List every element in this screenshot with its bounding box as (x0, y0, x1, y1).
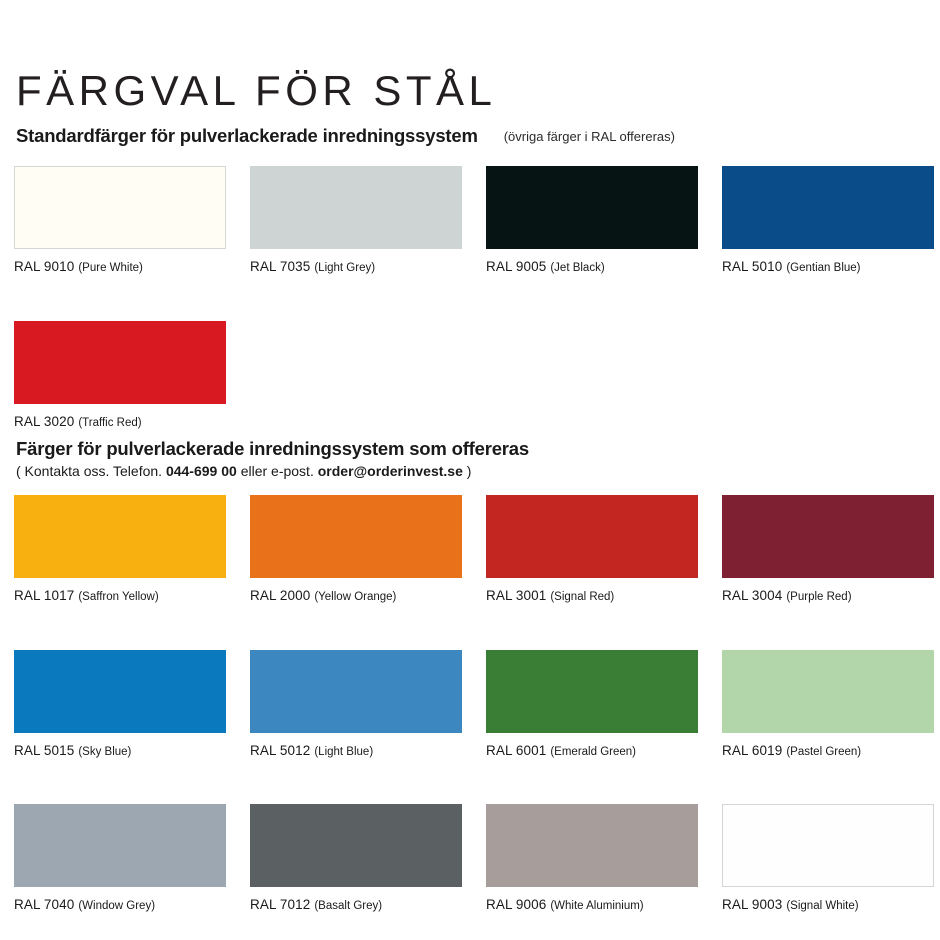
color-swatch-item[interactable]: RAL 2000(Yellow Orange) (250, 495, 462, 605)
color-swatch-name: (Saffron Yellow) (78, 591, 158, 603)
color-swatch-name: (Emerald Green) (550, 746, 636, 758)
color-swatch-item[interactable]: RAL 9003(Signal White) (722, 804, 934, 914)
color-swatch-item[interactable]: RAL 3020(Traffic Red) (14, 321, 226, 431)
color-swatch-name: (Signal Red) (550, 591, 614, 603)
contact-middle: eller e-post. (241, 463, 314, 479)
color-swatch-label: RAL 3004(Purple Red) (722, 587, 934, 605)
color-swatch-code: RAL 3001 (486, 588, 546, 603)
color-swatch-item[interactable]: RAL 5012(Light Blue) (250, 650, 462, 760)
section-standard-heading: Standardfärger för pulverlackerade inred… (0, 125, 940, 147)
color-swatch-name: (Light Blue) (314, 746, 373, 758)
color-chart-page: FÄRGVAL FÖR STÅL Standardfärger för pulv… (0, 0, 940, 940)
color-swatch-code: RAL 3020 (14, 414, 74, 429)
color-swatch-chip[interactable] (250, 804, 462, 887)
color-swatch-code: RAL 7012 (250, 897, 310, 912)
color-swatch-item[interactable]: RAL 1017(Saffron Yellow) (14, 495, 226, 605)
color-swatch-label: RAL 6019(Pastel Green) (722, 742, 934, 760)
color-swatch-item[interactable]: RAL 9006(White Aluminium) (486, 804, 698, 914)
color-swatch-name: (Gentian Blue) (786, 262, 860, 274)
color-swatch-chip[interactable] (722, 650, 934, 733)
section-standard-note: (övriga färger i RAL offereras) (504, 129, 675, 144)
color-swatch-name: (Jet Black) (550, 262, 604, 274)
color-swatch-code: RAL 9005 (486, 259, 546, 274)
color-swatch-chip[interactable] (250, 495, 462, 578)
color-swatch-code: RAL 9010 (14, 259, 74, 274)
color-swatch-item[interactable]: RAL 9005(Jet Black) (486, 166, 698, 276)
color-swatch-code: RAL 5012 (250, 743, 310, 758)
color-swatch-item[interactable]: RAL 7012(Basalt Grey) (250, 804, 462, 914)
color-swatch-code: RAL 9006 (486, 897, 546, 912)
color-swatch-item[interactable]: RAL 7035(Light Grey) (250, 166, 462, 276)
color-swatch-code: RAL 9003 (722, 897, 782, 912)
color-swatch-code: RAL 2000 (250, 588, 310, 603)
color-swatch-label: RAL 6001(Emerald Green) (486, 742, 698, 760)
contact-line: ( Kontakta oss. Telefon. 044-699 00 elle… (0, 463, 940, 479)
color-swatch-label: RAL 9005(Jet Black) (486, 258, 698, 276)
color-swatch-label: RAL 5010(Gentian Blue) (722, 258, 934, 276)
color-swatch-code: RAL 6001 (486, 743, 546, 758)
color-swatch-label: RAL 3020(Traffic Red) (14, 413, 226, 431)
color-swatch-chip[interactable] (14, 804, 226, 887)
offered-swatch-grid: RAL 1017(Saffron Yellow)RAL 2000(Yellow … (0, 495, 940, 914)
section-offered-title: Färger för pulverlackerade inredningssys… (16, 438, 529, 460)
color-swatch-label: RAL 7035(Light Grey) (250, 258, 462, 276)
color-swatch-code: RAL 7035 (250, 259, 310, 274)
color-swatch-item[interactable]: RAL 5015(Sky Blue) (14, 650, 226, 760)
color-swatch-name: (Purple Red) (786, 591, 851, 603)
color-swatch-chip[interactable] (250, 650, 462, 733)
color-swatch-chip[interactable] (722, 804, 934, 887)
color-swatch-item[interactable]: RAL 7040(Window Grey) (14, 804, 226, 914)
color-swatch-name: (Traffic Red) (78, 417, 141, 429)
color-swatch-code: RAL 5015 (14, 743, 74, 758)
color-swatch-label: RAL 9003(Signal White) (722, 896, 934, 914)
color-swatch-item[interactable]: RAL 3001(Signal Red) (486, 495, 698, 605)
color-swatch-name: (Pastel Green) (786, 746, 861, 758)
color-swatch-label: RAL 2000(Yellow Orange) (250, 587, 462, 605)
color-swatch-name: (Pure White) (78, 262, 143, 274)
color-swatch-label: RAL 7040(Window Grey) (14, 896, 226, 914)
contact-phone[interactable]: 044-699 00 (166, 463, 237, 479)
color-swatch-label: RAL 9010(Pure White) (14, 258, 226, 276)
color-swatch-chip[interactable] (486, 650, 698, 733)
color-swatch-label: RAL 1017(Saffron Yellow) (14, 587, 226, 605)
section-offered-heading: Färger för pulverlackerade inredningssys… (0, 438, 940, 460)
page-title: FÄRGVAL FÖR STÅL (16, 70, 496, 112)
color-swatch-chip[interactable] (486, 495, 698, 578)
color-swatch-chip[interactable] (722, 495, 934, 578)
color-swatch-chip[interactable] (486, 804, 698, 887)
color-swatch-item[interactable]: RAL 9010(Pure White) (14, 166, 226, 276)
color-swatch-code: RAL 7040 (14, 897, 74, 912)
contact-email[interactable]: order@orderinvest.se (318, 463, 463, 479)
color-swatch-name: (Sky Blue) (78, 746, 131, 758)
color-swatch-chip[interactable] (14, 321, 226, 404)
color-swatch-label: RAL 7012(Basalt Grey) (250, 896, 462, 914)
color-swatch-chip[interactable] (14, 650, 226, 733)
section-offered-colors: Färger för pulverlackerade inredningssys… (0, 438, 940, 914)
color-swatch-chip[interactable] (722, 166, 934, 249)
color-swatch-item[interactable]: RAL 5010(Gentian Blue) (722, 166, 934, 276)
color-swatch-code: RAL 3004 (722, 588, 782, 603)
color-swatch-name: (Yellow Orange) (314, 591, 396, 603)
color-swatch-chip[interactable] (14, 495, 226, 578)
color-swatch-chip[interactable] (14, 166, 226, 249)
color-swatch-chip[interactable] (486, 166, 698, 249)
color-swatch-item[interactable]: RAL 6001(Emerald Green) (486, 650, 698, 760)
color-swatch-name: (Signal White) (786, 900, 858, 912)
color-swatch-chip[interactable] (250, 166, 462, 249)
standard-swatch-grid: RAL 9010(Pure White)RAL 7035(Light Grey)… (0, 166, 940, 430)
color-swatch-item[interactable]: RAL 3004(Purple Red) (722, 495, 934, 605)
section-standard-colors: Standardfärger för pulverlackerade inred… (0, 125, 940, 430)
color-swatch-code: RAL 1017 (14, 588, 74, 603)
contact-open: ( Kontakta oss. Telefon. (16, 463, 162, 479)
contact-close: ) (467, 463, 472, 479)
color-swatch-name: (Window Grey) (78, 900, 155, 912)
color-swatch-label: RAL 5015(Sky Blue) (14, 742, 226, 760)
color-swatch-label: RAL 5012(Light Blue) (250, 742, 462, 760)
color-swatch-label: RAL 3001(Signal Red) (486, 587, 698, 605)
color-swatch-name: (Light Grey) (314, 262, 375, 274)
color-swatch-item[interactable]: RAL 6019(Pastel Green) (722, 650, 934, 760)
color-swatch-label: RAL 9006(White Aluminium) (486, 896, 698, 914)
color-swatch-name: (Basalt Grey) (314, 900, 382, 912)
color-swatch-code: RAL 5010 (722, 259, 782, 274)
section-standard-title: Standardfärger för pulverlackerade inred… (16, 125, 478, 147)
color-swatch-code: RAL 6019 (722, 743, 782, 758)
color-swatch-name: (White Aluminium) (550, 900, 643, 912)
